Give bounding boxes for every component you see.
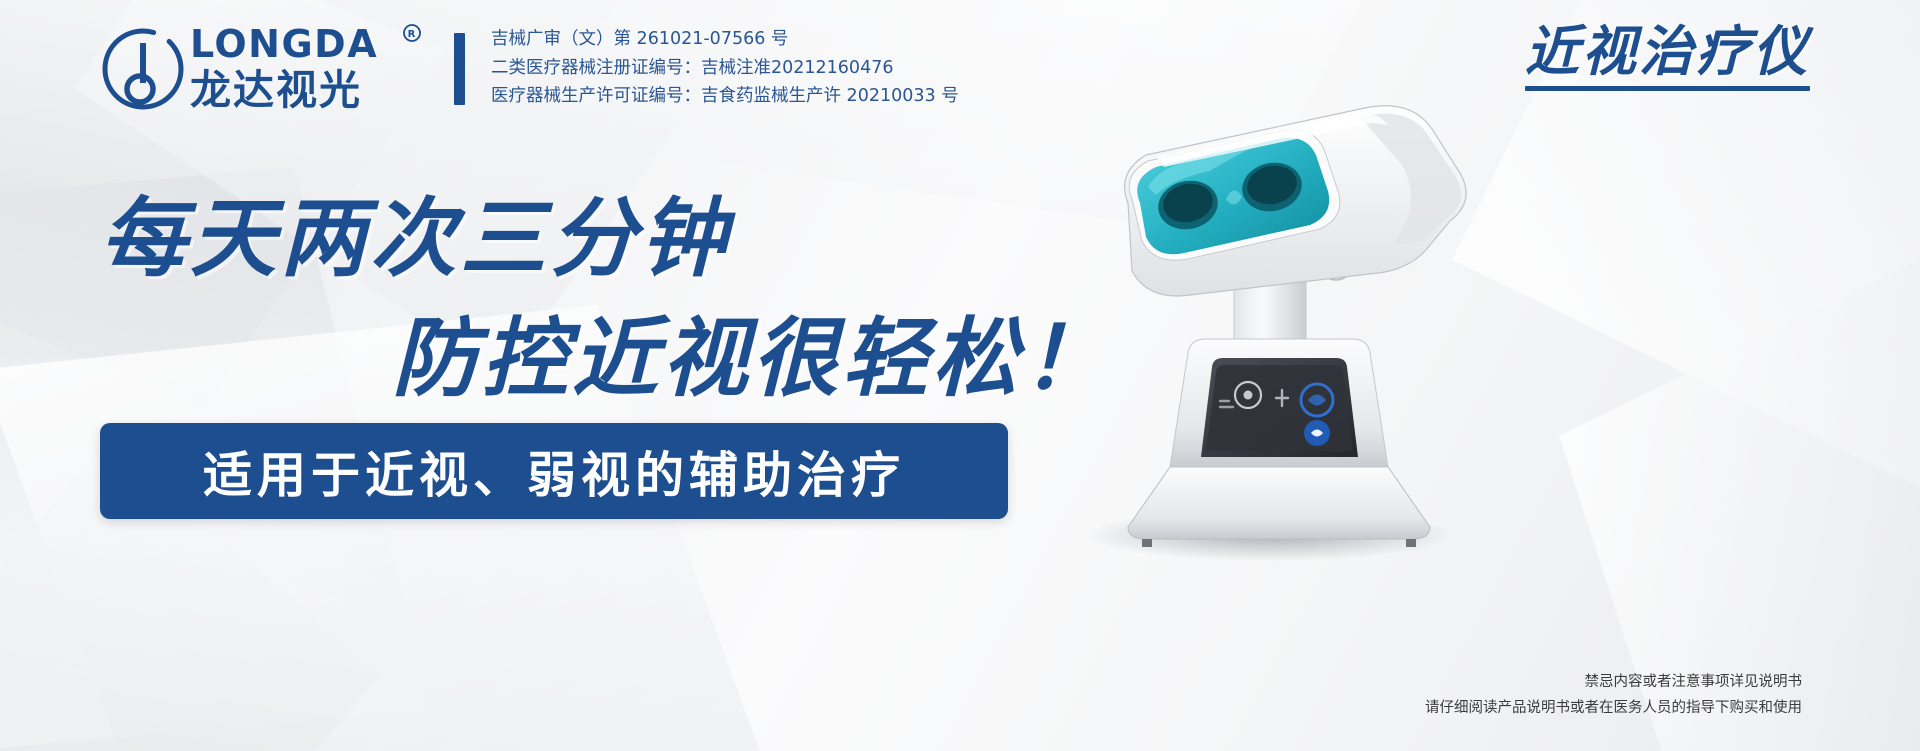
disclaimer-line-1: 禁忌内容或者注意事项详见说明书 <box>1425 670 1802 695</box>
logo-chinese-name: 龙达视光 <box>190 69 422 112</box>
headline-line-2: 防控近视很轻松！ <box>392 288 1112 413</box>
svg-text:R: R <box>408 29 417 40</box>
regulatory-line-1: 吉械广审（文）第 261021-07566 号 <box>491 27 959 52</box>
regulatory-info: 吉械广审（文）第 261021-07566 号 二类医疗器械注册证编号：吉械注准… <box>491 27 959 109</box>
legal-disclaimer: 禁忌内容或者注意事项详见说明书 请仔细阅读产品说明书或者在医务人员的指导下购买和… <box>1425 670 1802 721</box>
page-title: 近视治疗仪 <box>1525 22 1810 81</box>
headline-line-1: 每天两次三分钟 <box>100 168 730 293</box>
longda-logo-icon <box>100 26 186 112</box>
title-underline <box>1525 86 1810 91</box>
promotional-banner: LONGDA R 龙达视光 吉械广审（文）第 261021-07566 号 二类… <box>0 0 1920 751</box>
disclaimer-line-2: 请仔细阅读产品说明书或者在医务人员的指导下购买和使用 <box>1425 696 1802 721</box>
brand-header: LONGDA R 龙达视光 吉械广审（文）第 261021-07566 号 二类… <box>100 25 959 112</box>
header-divider <box>454 33 465 105</box>
svg-text:LONGDA: LONGDA <box>190 23 378 66</box>
logo-wordmark: LONGDA R 龙达视光 <box>190 25 422 112</box>
product-title-block: 近视治疗仪 <box>1525 22 1810 91</box>
regulatory-line-2: 二类医疗器械注册证编号：吉械注准20212160476 <box>491 56 959 81</box>
logo-latin-name: LONGDA R <box>190 25 422 65</box>
regulatory-line-3: 医疗器械生产许可证编号：吉食药监械生产许 20210033 号 <box>491 84 959 109</box>
indication-text: 适用于近视、弱视的辅助治疗 <box>203 436 905 507</box>
indication-banner: 适用于近视、弱视的辅助治疗 <box>100 423 1008 519</box>
